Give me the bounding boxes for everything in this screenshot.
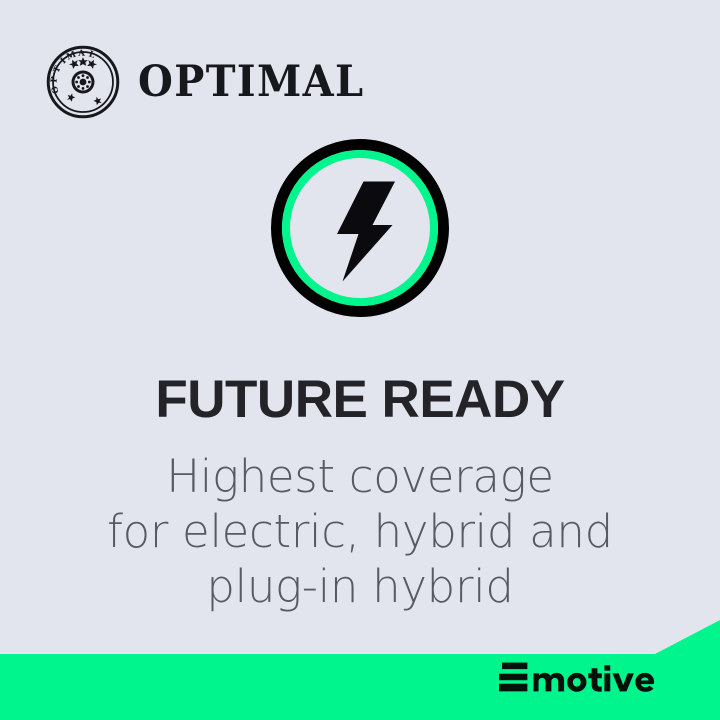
subcopy-line-3: plug-in hybrid [0, 560, 720, 615]
subcopy-line-2: for electric, hybrid and [0, 505, 720, 560]
lightning-bolt-in-circle-icon [271, 139, 449, 317]
optimal-seal-badge-icon: O P T I M A L [46, 45, 120, 119]
copy-block: FUTURE READY Highest coverage for electr… [0, 372, 720, 615]
subcopy: Highest coverage for electric, hybrid an… [0, 450, 720, 615]
page-title: FUTURE READY [0, 372, 720, 428]
subcopy-line-1: Highest coverage [0, 450, 720, 505]
brand-bar: O P T I M A L OPTIMA [46, 45, 382, 119]
brand-wordmark: OPTIMAL [138, 61, 365, 104]
footer-banner [0, 620, 720, 720]
emotive-wordmark-logo [499, 658, 698, 704]
svg-text:A: A [77, 49, 86, 59]
svg-text:L: L [87, 49, 96, 60]
svg-text:O: O [50, 84, 62, 94]
hero-emblem [271, 139, 449, 317]
svg-text:P: P [50, 75, 61, 83]
